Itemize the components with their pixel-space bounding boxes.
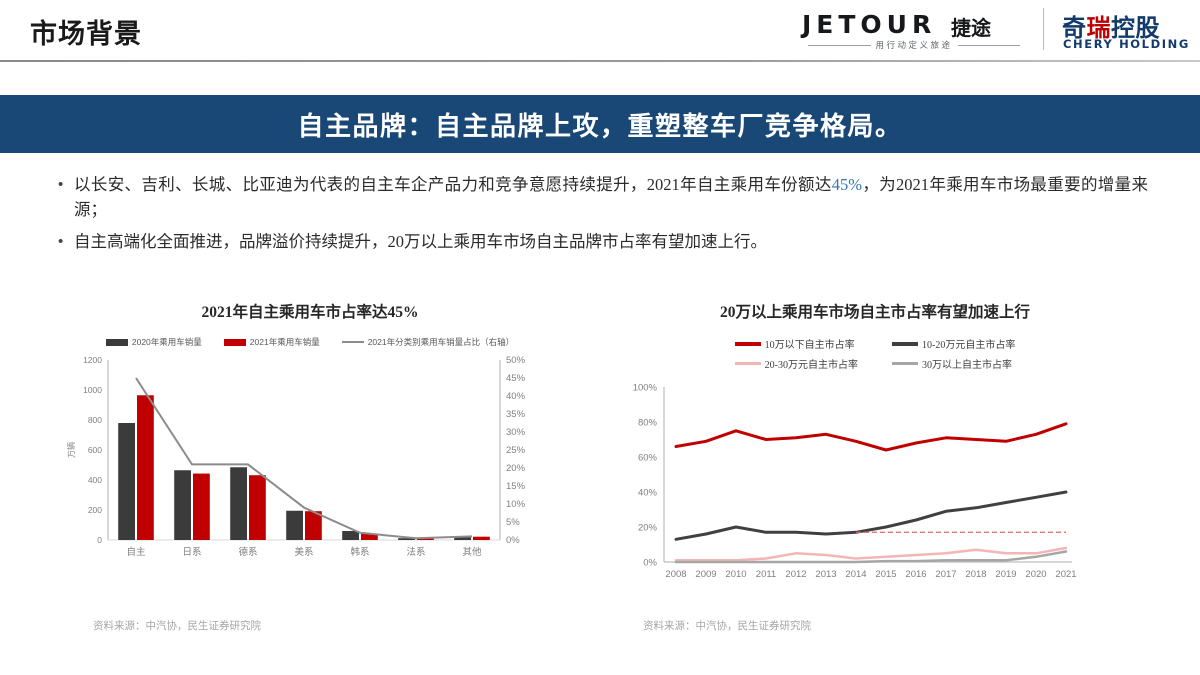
bullet-text: 以长安、吉利、长城、比亚迪为代表的自主车企产品力和竞争意愿持续提升，2021年自… — [74, 172, 1148, 222]
chart-panel-left: 2021年自主乘用车市占率达45% 2020年乘用车销量 2021年乘用车销量 … — [60, 300, 560, 578]
jetour-wordmark: JETOUR — [802, 10, 936, 39]
legend-label: 2020年乘用车销量 — [132, 336, 202, 348]
y-tick-label: 200 — [88, 505, 102, 515]
chart-panel-right: 20万以上乘用车市场自主市占率有望加速上行 10万以下自主市占率 10-20万元… — [620, 300, 1130, 597]
section-banner: 自主品牌：自主品牌上攻，重塑整车厂竞争格局。 — [0, 95, 1200, 153]
legend-swatch-20to30 — [735, 362, 761, 365]
y2-tick-label: 5% — [506, 517, 520, 528]
bar-2021 — [473, 537, 490, 540]
y-tick-label: 100% — [633, 383, 658, 394]
y2-tick-label: 15% — [506, 481, 526, 492]
chery-english-name: CHERY HOLDING — [1063, 37, 1190, 51]
y-tick-label: 0% — [643, 558, 657, 569]
series-line-0 — [676, 424, 1066, 450]
year-tick-label: 2014 — [845, 569, 866, 580]
legend-swatch-over30 — [892, 362, 918, 365]
category-label: 自主 — [126, 546, 145, 558]
series-line-1 — [676, 492, 1066, 539]
year-tick-label: 2009 — [695, 569, 716, 580]
y-tick-label: 400 — [88, 475, 102, 485]
year-tick-label: 2012 — [785, 569, 806, 580]
bar-2021 — [249, 475, 266, 540]
y2-tick-label: 40% — [506, 391, 526, 402]
bullet-text: 自主高端化全面推进，品牌溢价持续提升，20万以上乘用车市场自主品牌市占率有望加速… — [74, 229, 1148, 254]
bullet-list: • 以长安、吉利、长城、比亚迪为代表的自主车企产品力和竞争意愿持续提升，2021… — [58, 172, 1148, 261]
logo-divider — [1043, 8, 1044, 50]
year-tick-label: 2013 — [815, 569, 836, 580]
y-tick-label: 800 — [88, 415, 102, 425]
y2-tick-label: 50% — [506, 355, 526, 366]
legend-label: 20-30万元自主市占率 — [765, 356, 858, 371]
legend-swatch-line-share — [342, 341, 364, 343]
category-label: 德系 — [238, 546, 257, 558]
category-label: 其他 — [462, 546, 482, 558]
left-chart-source: 资料来源：中汽协，民生证券研究院 — [93, 618, 261, 633]
category-label: 韩系 — [350, 546, 369, 558]
bar-2020 — [118, 423, 135, 540]
legend-label: 10万以下自主市占率 — [765, 336, 855, 351]
bar-2020 — [342, 531, 359, 540]
y-tick-label: 80% — [638, 418, 658, 429]
year-tick-label: 2010 — [725, 569, 746, 580]
y2-tick-label: 10% — [506, 499, 526, 510]
legend-swatch-under10 — [735, 342, 761, 346]
y-tick-label: 1000 — [83, 385, 102, 395]
legend-item: 10-20万元自主市占率 — [892, 336, 1015, 351]
right-chart-title: 20万以上乘用车市场自主市占率有望加速上行 — [620, 300, 1130, 322]
legend-label: 10-20万元自主市占率 — [922, 336, 1015, 351]
y-tick-label: 0 — [97, 535, 102, 545]
bar-2020 — [230, 467, 247, 540]
year-tick-label: 2016 — [905, 569, 926, 580]
y-tick-label: 600 — [88, 445, 102, 455]
y-tick-label: 40% — [638, 488, 658, 499]
tagline-rule-left — [808, 45, 871, 46]
legend-label: 30万以上自主市占率 — [922, 356, 1012, 371]
series-line-2 — [676, 548, 1066, 560]
y2-tick-label: 35% — [506, 409, 526, 420]
right-chart-plot: 0%20%40%60%80%100%2008200920102011201220… — [620, 377, 1090, 597]
legend-label: 2021年分类别乘用车销量占比（右轴） — [368, 336, 514, 348]
legend-item: 10万以下自主市占率 — [735, 336, 858, 351]
header-divider — [0, 60, 1200, 62]
year-tick-label: 2018 — [965, 569, 986, 580]
right-chart-source: 资料来源：中汽协，民生证券研究院 — [643, 618, 811, 633]
bar-2021 — [137, 395, 154, 540]
year-tick-label: 2011 — [756, 569, 776, 580]
section-banner-title: 自主品牌：自主品牌上攻，重塑整车厂竞争格局。 — [297, 106, 902, 143]
year-tick-label: 2020 — [1025, 569, 1046, 580]
category-label: 美系 — [294, 546, 313, 558]
bar-2021 — [193, 474, 210, 540]
y-tick-label: 20% — [638, 523, 658, 534]
y2-tick-label: 25% — [506, 445, 526, 456]
bullet-item: • 自主高端化全面推进，品牌溢价持续提升，20万以上乘用车市场自主品牌市占率有望… — [58, 229, 1148, 254]
y-axis-label: 万辆 — [66, 442, 76, 458]
bullet-marker: • — [58, 229, 74, 254]
bullet-marker: • — [58, 172, 74, 197]
jetour-tagline: 用行动定义旅途 — [808, 39, 1020, 51]
tagline-rule-right — [958, 45, 1021, 46]
bar-2020 — [174, 470, 191, 540]
chery-holding-logo: 奇瑞控股 CHERY HOLDING — [1062, 8, 1192, 54]
y2-tick-label: 0% — [506, 535, 520, 546]
year-tick-label: 2015 — [875, 569, 896, 580]
jetour-tagline-text: 用行动定义旅途 — [876, 39, 953, 51]
year-tick-label: 2019 — [995, 569, 1016, 580]
year-tick-label: 2017 — [935, 569, 956, 580]
year-tick-label: 2008 — [665, 569, 686, 580]
category-label: 日系 — [182, 547, 201, 558]
right-chart-legend: 10万以下自主市占率 10-20万元自主市占率 20-30万元自主市占率 30万… — [620, 336, 1130, 371]
y2-tick-label: 30% — [506, 427, 526, 438]
left-chart-title: 2021年自主乘用车市占率达45% — [60, 300, 560, 322]
left-chart-plot: 0200400600800100012000%5%10%15%20%25%30%… — [60, 348, 560, 578]
slide-root: 市场背景 JETOUR 捷途 用行动定义旅途 奇瑞控股 CHERY HOLDIN… — [0, 0, 1200, 675]
y-tick-label: 1200 — [83, 355, 102, 365]
left-chart-legend: 2020年乘用车销量 2021年乘用车销量 2021年分类别乘用车销量占比（右轴… — [60, 336, 560, 348]
jetour-chinese-name: 捷途 — [951, 12, 991, 41]
bullet-text-part1: 以长安、吉利、长城、比亚迪为代表的自主车企产品力和竞争意愿持续提升，2021年自… — [74, 175, 832, 194]
y2-tick-label: 45% — [506, 373, 526, 384]
page-title: 市场背景 — [30, 12, 142, 51]
legend-swatch-bar-2021 — [224, 339, 246, 346]
bar-2020 — [286, 511, 303, 540]
legend-item: 2020年乘用车销量 — [106, 336, 202, 348]
legend-label: 2021年乘用车销量 — [250, 336, 320, 348]
category-label: 法系 — [406, 546, 425, 558]
legend-swatch-10to20 — [892, 342, 918, 346]
year-tick-label: 2021 — [1055, 569, 1076, 580]
slide-header: 市场背景 JETOUR 捷途 用行动定义旅途 奇瑞控股 CHERY HOLDIN… — [0, 0, 1200, 62]
bullet-highlight: 45% — [832, 175, 862, 194]
legend-item: 20-30万元自主市占率 — [735, 356, 858, 371]
bullet-item: • 以长安、吉利、长城、比亚迪为代表的自主车企产品力和竞争意愿持续提升，2021… — [58, 172, 1148, 222]
legend-item: 30万以上自主市占率 — [892, 356, 1015, 371]
legend-swatch-bar-2020 — [106, 339, 128, 346]
y2-tick-label: 20% — [506, 463, 526, 474]
y-tick-label: 60% — [638, 453, 658, 464]
jetour-logo: JETOUR 捷途 用行动定义旅途 — [802, 8, 1027, 54]
bullet-text-part1: 自主高端化全面推进，品牌溢价持续提升，20万以上乘用车市场自主品牌市占率有望加速… — [74, 232, 767, 251]
legend-item: 2021年分类别乘用车销量占比（右轴） — [342, 336, 514, 348]
legend-item: 2021年乘用车销量 — [224, 336, 320, 348]
